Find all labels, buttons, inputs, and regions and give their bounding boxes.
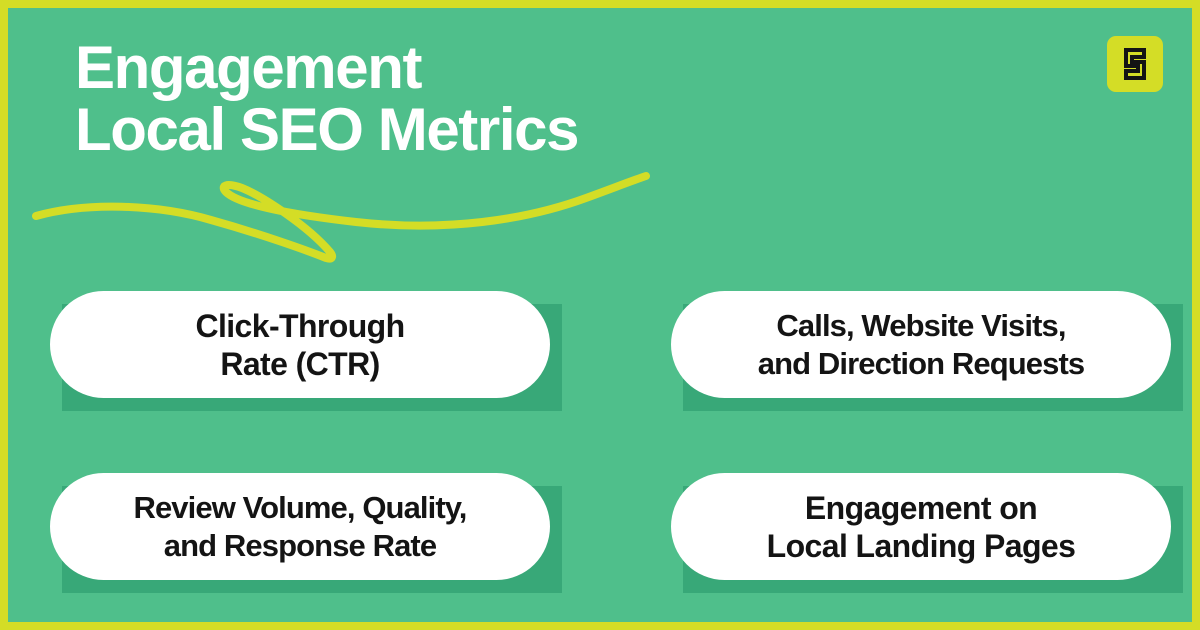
- card-body: Review Volume, Quality, and Response Rat…: [50, 473, 550, 580]
- infographic-stage: Engagement Local SEO Metrics Click-Throu…: [8, 8, 1192, 622]
- metric-card-reviews[interactable]: Review Volume, Quality, and Response Rat…: [50, 473, 550, 580]
- card-body: Calls, Website Visits, and Direction Req…: [671, 291, 1171, 398]
- metric-card-landing-pages[interactable]: Engagement on Local Landing Pages: [671, 473, 1171, 580]
- infographic-canvas: Engagement Local SEO Metrics Click-Throu…: [0, 0, 1200, 630]
- metric-card-ctr[interactable]: Click-Through Rate (CTR): [50, 291, 550, 398]
- metric-card-label: Review Volume, Quality, and Response Rat…: [129, 489, 470, 565]
- metric-card-label: Engagement on Local Landing Pages: [763, 489, 1080, 565]
- metric-card-label: Calls, Website Visits, and Direction Req…: [754, 307, 1088, 383]
- metric-card-calls[interactable]: Calls, Website Visits, and Direction Req…: [671, 291, 1171, 398]
- metrics-card-grid: Click-Through Rate (CTR) Calls, Website …: [8, 8, 1192, 622]
- card-body: Click-Through Rate (CTR): [50, 291, 550, 398]
- metric-card-label: Click-Through Rate (CTR): [191, 307, 408, 383]
- card-body: Engagement on Local Landing Pages: [671, 473, 1171, 580]
